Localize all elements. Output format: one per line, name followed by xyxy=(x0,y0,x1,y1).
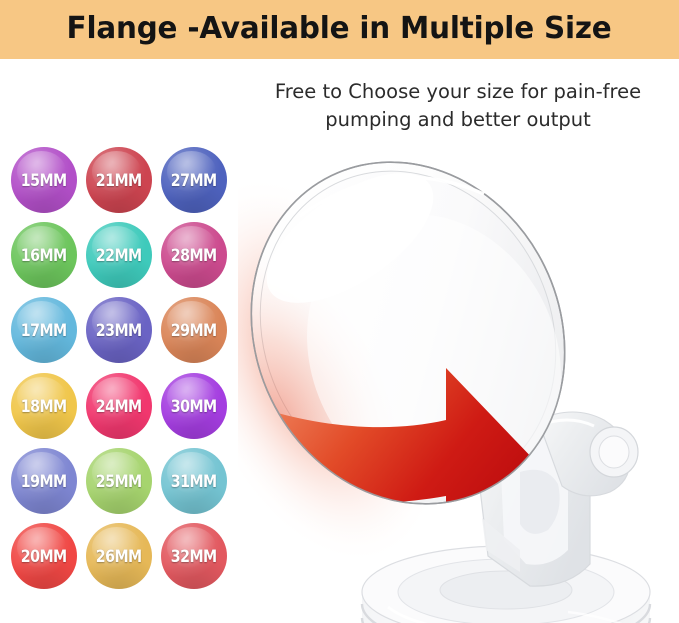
size-circle-22mm[interactable]: 22MM xyxy=(86,222,152,288)
size-circle-label: 30MM xyxy=(171,397,217,416)
size-circle-label: 29MM xyxy=(171,321,217,340)
product-image xyxy=(238,120,679,623)
size-circle-label: 20MM xyxy=(21,547,67,566)
size-circle-21mm[interactable]: 21MM xyxy=(86,147,152,213)
subtitle-line-1: Free to Choose your size for pain-free xyxy=(248,78,668,106)
product-infographic: Flange -Available in Multiple Size Free … xyxy=(0,0,679,623)
size-circle-32mm[interactable]: 32MM xyxy=(161,523,227,589)
size-circle-label: 25MM xyxy=(96,472,142,491)
size-circle-20mm[interactable]: 20MM xyxy=(11,523,77,589)
size-circle-label: 16MM xyxy=(21,246,67,265)
size-circle-label: 26MM xyxy=(96,547,142,566)
size-circle-29mm[interactable]: 29MM xyxy=(161,297,227,363)
size-circle-label: 18MM xyxy=(21,397,67,416)
size-circle-18mm[interactable]: 18MM xyxy=(11,373,77,439)
size-circle-23mm[interactable]: 23MM xyxy=(86,297,152,363)
size-circle-24mm[interactable]: 24MM xyxy=(86,373,152,439)
size-circle-26mm[interactable]: 26MM xyxy=(86,523,152,589)
size-circle-label: 15MM xyxy=(21,171,67,190)
size-circle-25mm[interactable]: 25MM xyxy=(86,448,152,514)
size-circle-label: 21MM xyxy=(96,171,142,190)
size-circle-label: 22MM xyxy=(96,246,142,265)
size-circle-28mm[interactable]: 28MM xyxy=(161,222,227,288)
page-title: Flange -Available in Multiple Size xyxy=(67,14,612,46)
size-circle-16mm[interactable]: 16MM xyxy=(11,222,77,288)
size-circle-label: 24MM xyxy=(96,397,142,416)
size-circle-31mm[interactable]: 31MM xyxy=(161,448,227,514)
size-circle-label: 31MM xyxy=(171,472,217,491)
size-circle-15mm[interactable]: 15MM xyxy=(11,147,77,213)
size-circle-label: 27MM xyxy=(171,171,217,190)
size-circle-label: 32MM xyxy=(171,547,217,566)
size-circle-label: 23MM xyxy=(96,321,142,340)
size-circle-17mm[interactable]: 17MM xyxy=(11,297,77,363)
size-options-grid: 15MM21MM27MM16MM22MM28MM17MM23MM29MM18MM… xyxy=(11,147,237,567)
size-circle-30mm[interactable]: 30MM xyxy=(161,373,227,439)
size-circle-19mm[interactable]: 19MM xyxy=(11,448,77,514)
size-circle-label: 28MM xyxy=(171,246,217,265)
header-banner: Flange -Available in Multiple Size xyxy=(0,0,679,59)
size-circle-27mm[interactable]: 27MM xyxy=(161,147,227,213)
size-circle-label: 17MM xyxy=(21,321,67,340)
size-circle-label: 19MM xyxy=(21,472,67,491)
